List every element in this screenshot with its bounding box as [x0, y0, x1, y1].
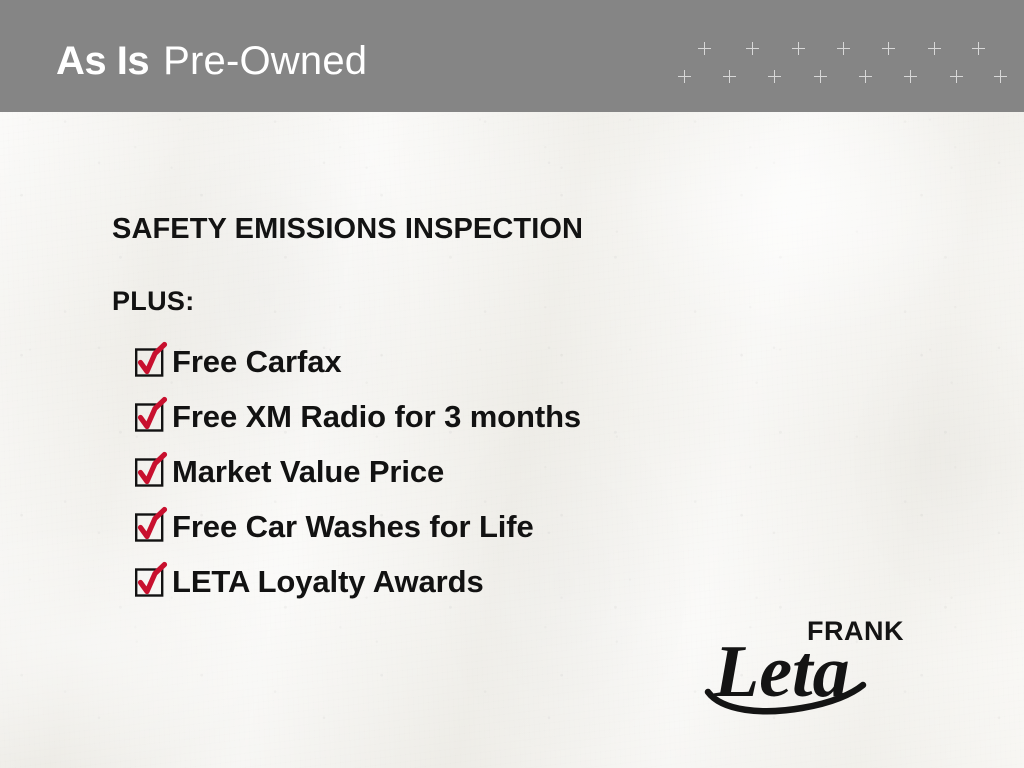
plus-mark-icon: [859, 70, 872, 83]
checked-checkbox-icon: [134, 344, 168, 378]
list-item-label: Free Car Washes for Life: [172, 509, 534, 545]
list-item: Market Value Price: [112, 444, 932, 499]
plus-mark-icon: [882, 42, 895, 55]
slide-canvas: As IsPre-Owned SAFETY EMISSIONS INSPECTI…: [0, 0, 1024, 768]
slide-content: SAFETY EMISSIONS INSPECTION PLUS: Free C…: [112, 212, 932, 609]
checked-checkbox-icon: [134, 454, 168, 488]
list-item-label: Market Value Price: [172, 454, 444, 490]
page-title-light: Pre-Owned: [163, 39, 367, 83]
page-title: As IsPre-Owned: [56, 38, 367, 84]
subject-line: SAFETY EMISSIONS INSPECTION: [112, 212, 932, 246]
plus-mark-icon: [792, 42, 805, 55]
plus-mark-icon: [837, 42, 850, 55]
plus-mark-icon: [678, 70, 691, 83]
list-item: Free Carfax: [112, 334, 932, 389]
plus-mark-icon: [950, 70, 963, 83]
plus-mark-icon: [994, 70, 1007, 83]
list-item-label: Free Carfax: [172, 344, 342, 380]
list-item: LETA Loyalty Awards: [112, 554, 932, 609]
checked-checkbox-icon: [134, 399, 168, 433]
plus-mark-icon: [814, 70, 827, 83]
list-item: Free XM Radio for 3 months: [112, 389, 932, 444]
plus-decoration-group: [672, 38, 1012, 94]
frank-leta-logo: FRANK Leta: [700, 608, 915, 720]
plus-label: PLUS:: [112, 286, 932, 316]
page-title-strong: As Is: [56, 39, 149, 83]
header-bar: As IsPre-Owned: [0, 0, 1024, 112]
plus-mark-icon: [698, 42, 711, 55]
checked-checkbox-icon: [134, 509, 168, 543]
checked-checkbox-icon: [134, 564, 168, 598]
list-item: Free Car Washes for Life: [112, 499, 932, 554]
list-item-label: Free XM Radio for 3 months: [172, 399, 581, 435]
benefit-list: Free Carfax Free XM Radio for 3 months: [112, 334, 932, 609]
plus-mark-icon: [746, 42, 759, 55]
plus-mark-icon: [972, 42, 985, 55]
plus-mark-icon: [928, 42, 941, 55]
plus-mark-icon: [904, 70, 917, 83]
list-item-label: LETA Loyalty Awards: [172, 564, 484, 600]
plus-mark-icon: [768, 70, 781, 83]
plus-mark-icon: [723, 70, 736, 83]
